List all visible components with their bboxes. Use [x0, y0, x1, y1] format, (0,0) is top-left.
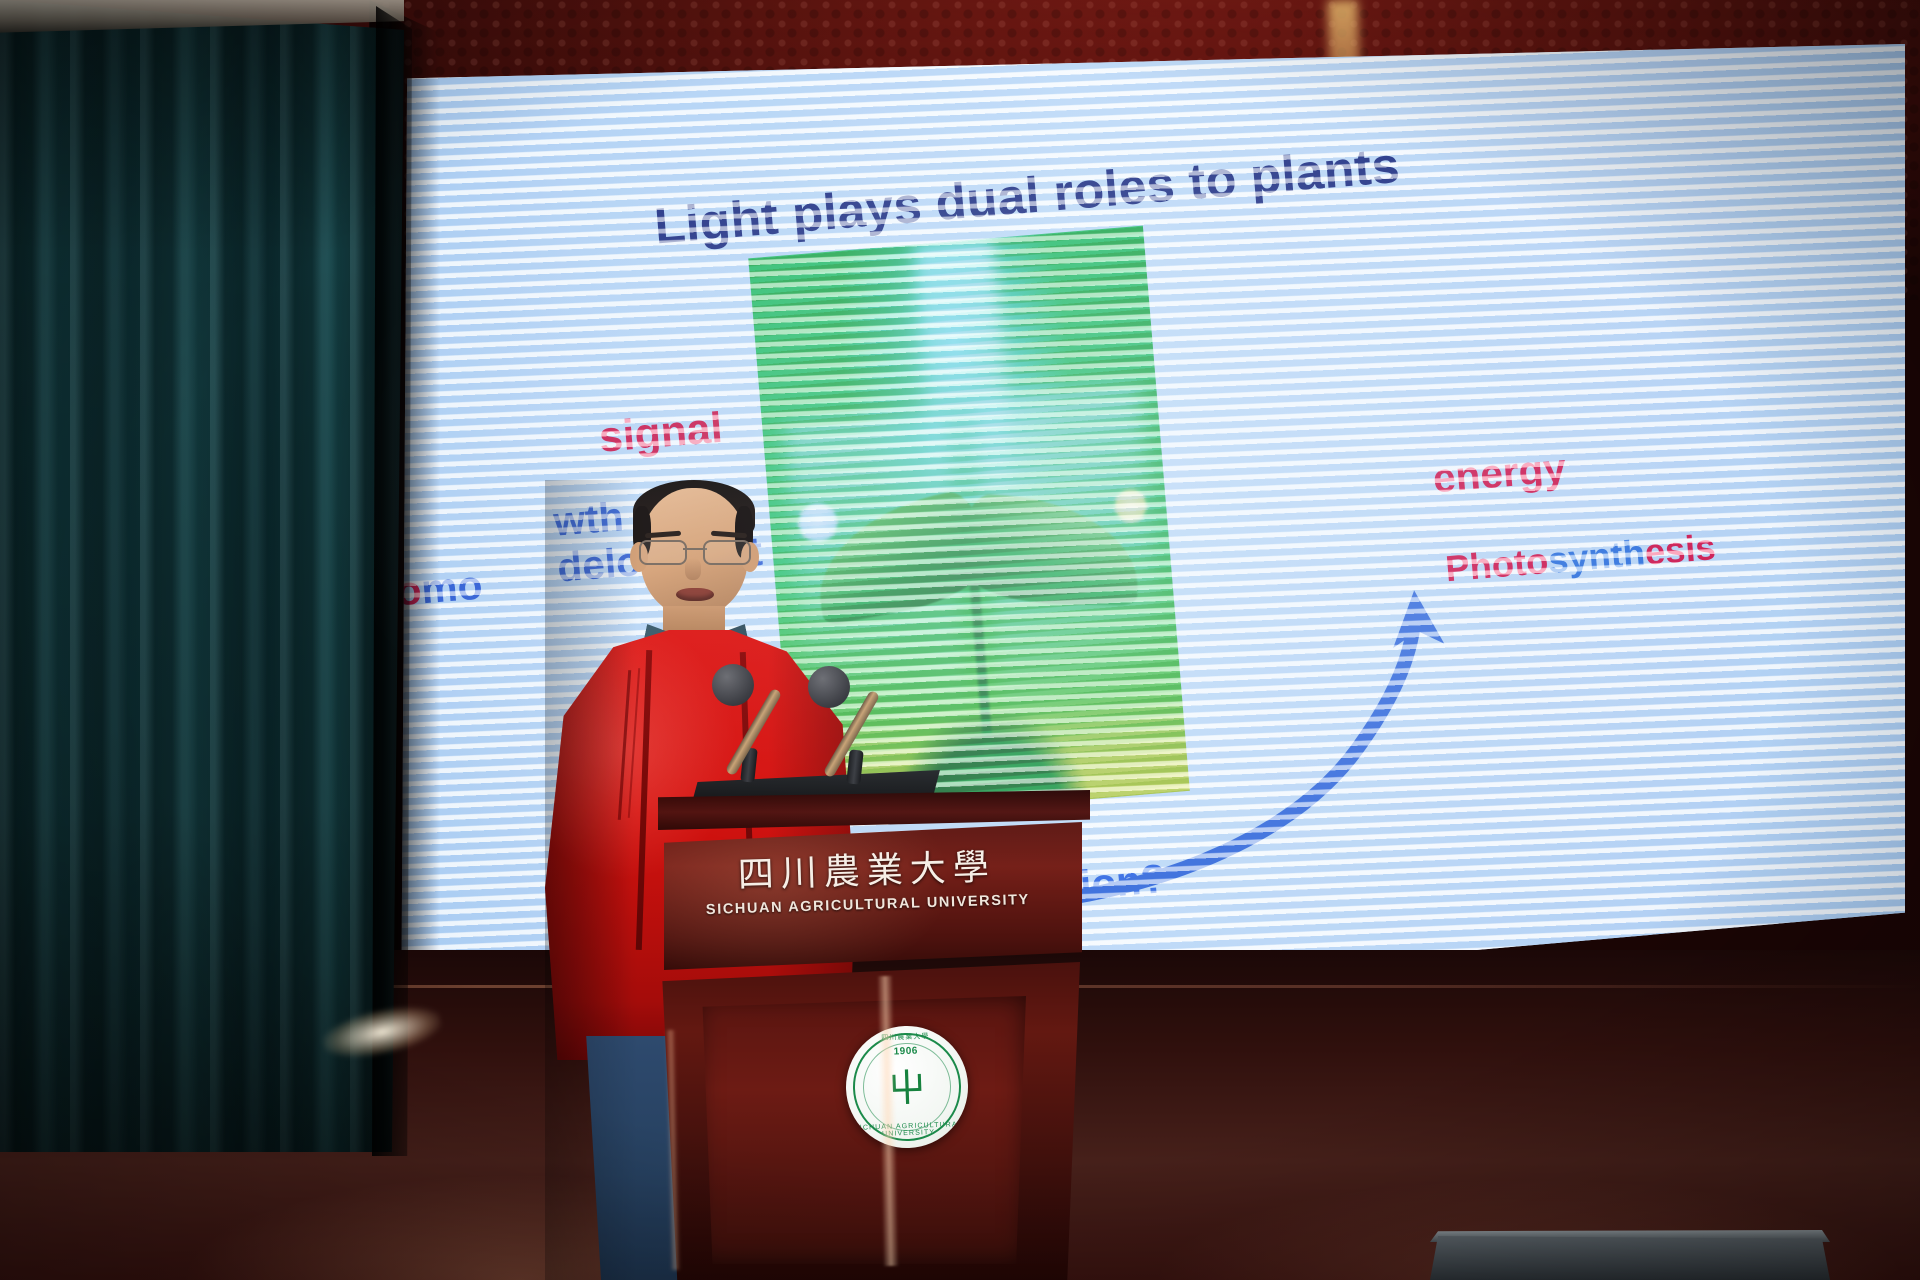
- curtain-shading: [0, 0, 404, 1152]
- speaker-mouth: [676, 588, 714, 601]
- microphone-head-right: [808, 666, 850, 708]
- eyeglass-lens-left: [639, 540, 687, 565]
- lectern: 四川農業大學 SICHUAN AGRICULTURAL UNIVERSITY 四…: [650, 790, 1090, 1280]
- photograph-scene: Light plays dual roles to plants signal: [0, 0, 1920, 1280]
- speaker-nose: [685, 558, 701, 580]
- university-name-chinese: 四川農業大學: [701, 837, 1032, 899]
- curtain-right-edge: [372, 6, 412, 1156]
- lectern-university-nameplate: 四川農業大學 SICHUAN AGRICULTURAL UNIVERSITY: [701, 837, 1033, 918]
- stage-monitor: [1430, 1236, 1830, 1280]
- eyeglass-lens-right: [703, 540, 751, 565]
- stage-curtain-left: [0, 0, 404, 1152]
- microphone-head-left: [712, 664, 754, 706]
- lectern-top-surface: [658, 790, 1090, 830]
